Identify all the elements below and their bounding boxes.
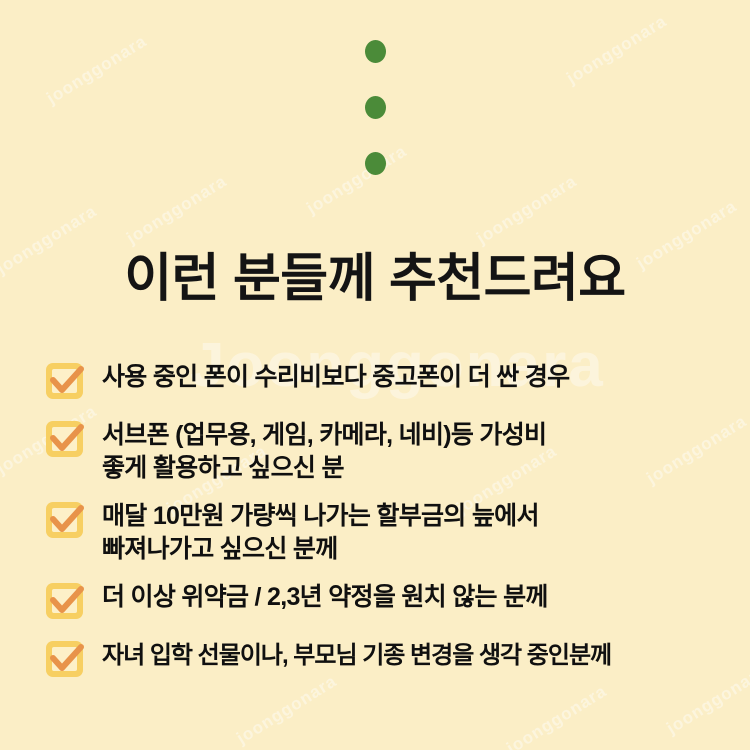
dot-3 bbox=[365, 152, 386, 175]
list-item: 서브폰 (업무용, 게임, 카메라, 네비)등 가성비 좋게 활용하고 싶으신 … bbox=[44, 416, 734, 485]
checklist: 사용 중인 폰이 수리비보다 중고폰이 더 싼 경우 서브폰 (업무용, 게임,… bbox=[44, 358, 734, 694]
list-item-label: 서브폰 (업무용, 게임, 카메라, 네비)등 가성비 좋게 활용하고 싶으신 … bbox=[102, 416, 546, 485]
list-item: 더 이상 위약금 / 2,3년 약정을 원치 않는 분께 bbox=[44, 578, 734, 622]
list-item-label: 매달 10만원 가량씩 나가는 할부금의 늪에서 빠져나가고 싶으신 분께 bbox=[102, 497, 539, 566]
list-item: 사용 중인 폰이 수리비보다 중고폰이 더 싼 경우 bbox=[44, 358, 734, 402]
promo-poster: Joonggonara joonggonara joonggonara joon… bbox=[0, 0, 750, 750]
list-item-label: 자녀 입학 선물이나, 부모님 기종 변경을 생각 중인분께 bbox=[102, 636, 611, 672]
watermark-tile: joonggonara bbox=[473, 171, 580, 248]
checkbox-checked-icon bbox=[44, 418, 86, 460]
checkbox-checked-icon bbox=[44, 360, 86, 402]
dot-2 bbox=[365, 96, 386, 119]
vertical-dots bbox=[0, 40, 750, 175]
list-item-label: 사용 중인 폰이 수리비보다 중고폰이 더 싼 경우 bbox=[102, 358, 569, 394]
list-item-label: 더 이상 위약금 / 2,3년 약정을 원치 않는 분께 bbox=[102, 578, 548, 614]
checkbox-checked-icon bbox=[44, 638, 86, 680]
page-title: 이런 분들께 추천드려요 bbox=[0, 248, 750, 310]
checkbox-checked-icon bbox=[44, 580, 86, 622]
dot-1 bbox=[365, 40, 386, 63]
checkbox-checked-icon bbox=[44, 499, 86, 541]
list-item: 자녀 입학 선물이나, 부모님 기종 변경을 생각 중인분께 bbox=[44, 636, 734, 680]
watermark-tile: joonggonara bbox=[123, 171, 230, 248]
list-item: 매달 10만원 가량씩 나가는 할부금의 늪에서 빠져나가고 싶으신 분께 bbox=[44, 497, 734, 566]
